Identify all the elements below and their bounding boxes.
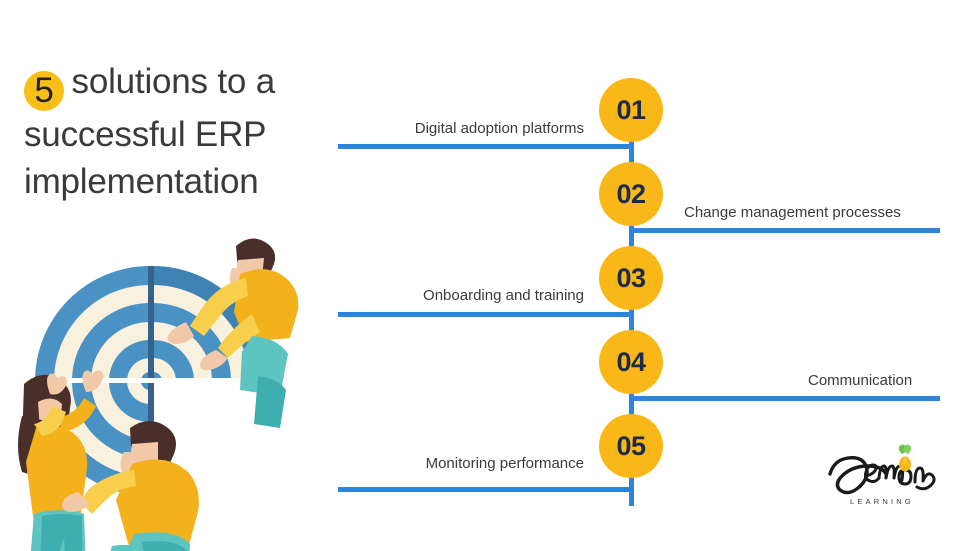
connector-line-5	[338, 487, 634, 492]
step-circle-02[interactable]: 02	[599, 162, 663, 226]
step-label-01[interactable]: Digital adoption platforms	[338, 119, 584, 139]
step-circle-04[interactable]: 04	[599, 330, 663, 394]
slide-canvas: 5 solutions to a successful ERP implemen…	[0, 0, 980, 551]
step-circle-05[interactable]: 05	[599, 414, 663, 478]
lemon-learning-logo: LEARNING	[822, 440, 942, 520]
logo-subtitle: LEARNING	[822, 497, 942, 506]
step-label-03[interactable]: Onboarding and training	[338, 286, 584, 306]
step-label-04[interactable]: Communication	[808, 371, 974, 391]
lemon-leaf-icon	[899, 445, 912, 472]
step-circle-01[interactable]: 01	[599, 78, 663, 142]
lemon-wordmark-icon	[822, 440, 942, 496]
step-label-05[interactable]: Monitoring performance	[338, 454, 584, 474]
connector-line-3	[338, 312, 634, 317]
connector-line-1	[338, 144, 634, 149]
step-label-02[interactable]: Change management processes	[684, 203, 974, 223]
connector-line-2	[629, 228, 940, 233]
connector-line-4	[629, 396, 940, 401]
step-circle-03[interactable]: 03	[599, 246, 663, 310]
